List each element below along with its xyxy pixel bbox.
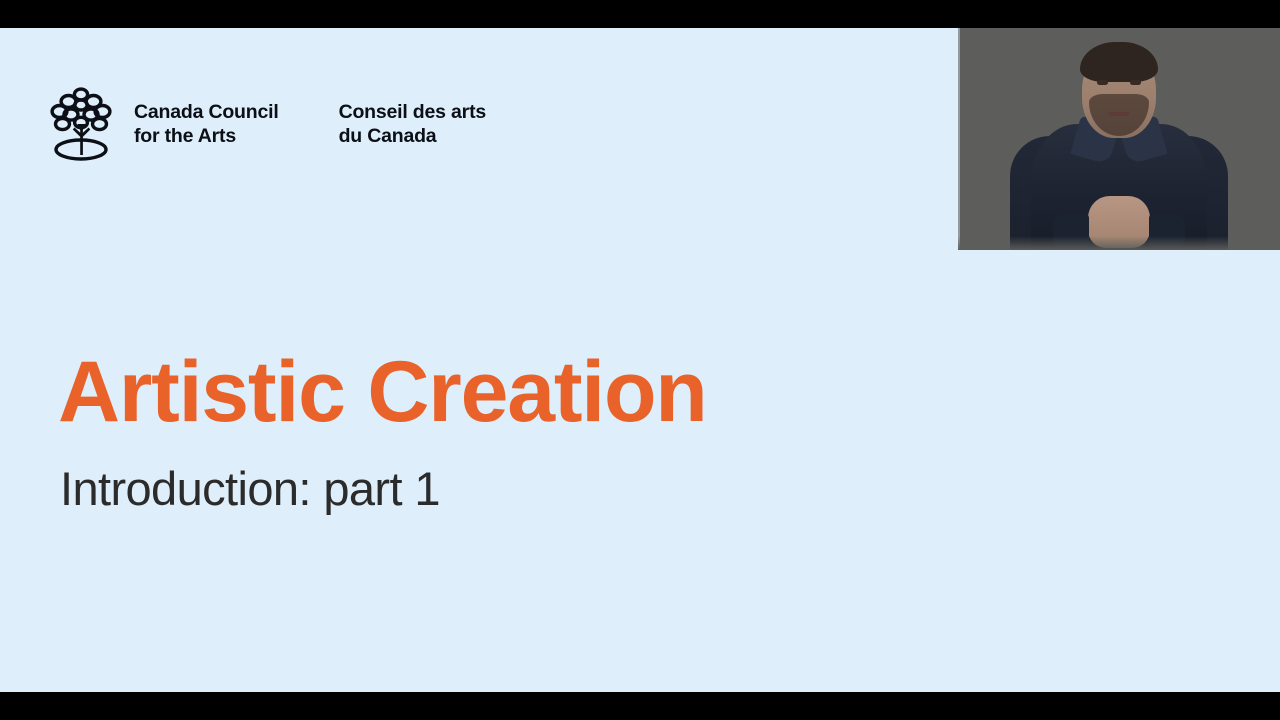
eye-right (1130, 80, 1141, 85)
interpreter-video-inset (958, 28, 1280, 250)
inset-left-edge (958, 28, 960, 250)
presentation-slide: Canada Council for the Arts Conseil des … (0, 28, 1280, 692)
logo-wordmark-en: Canada Council for the Arts (134, 100, 279, 149)
hair (1080, 42, 1158, 82)
letterbox-bottom (0, 692, 1280, 720)
tree-logo-icon (50, 86, 112, 162)
eye-left (1097, 80, 1108, 85)
video-player-frame: Canada Council for the Arts Conseil des … (0, 0, 1280, 720)
logo-wordmarks: Canada Council for the Arts Conseil des … (134, 100, 486, 149)
canada-council-logo: Canada Council for the Arts Conseil des … (50, 86, 486, 162)
interpreter-figure (958, 28, 1280, 250)
slide-subtitle: Introduction: part 1 (60, 462, 440, 516)
mouth (1108, 112, 1130, 116)
logo-wordmark-fr: Conseil des arts du Canada (339, 100, 486, 149)
inset-bottom-shade (958, 236, 1280, 250)
letterbox-top (0, 0, 1280, 28)
slide-title: Artistic Creation (58, 346, 707, 439)
